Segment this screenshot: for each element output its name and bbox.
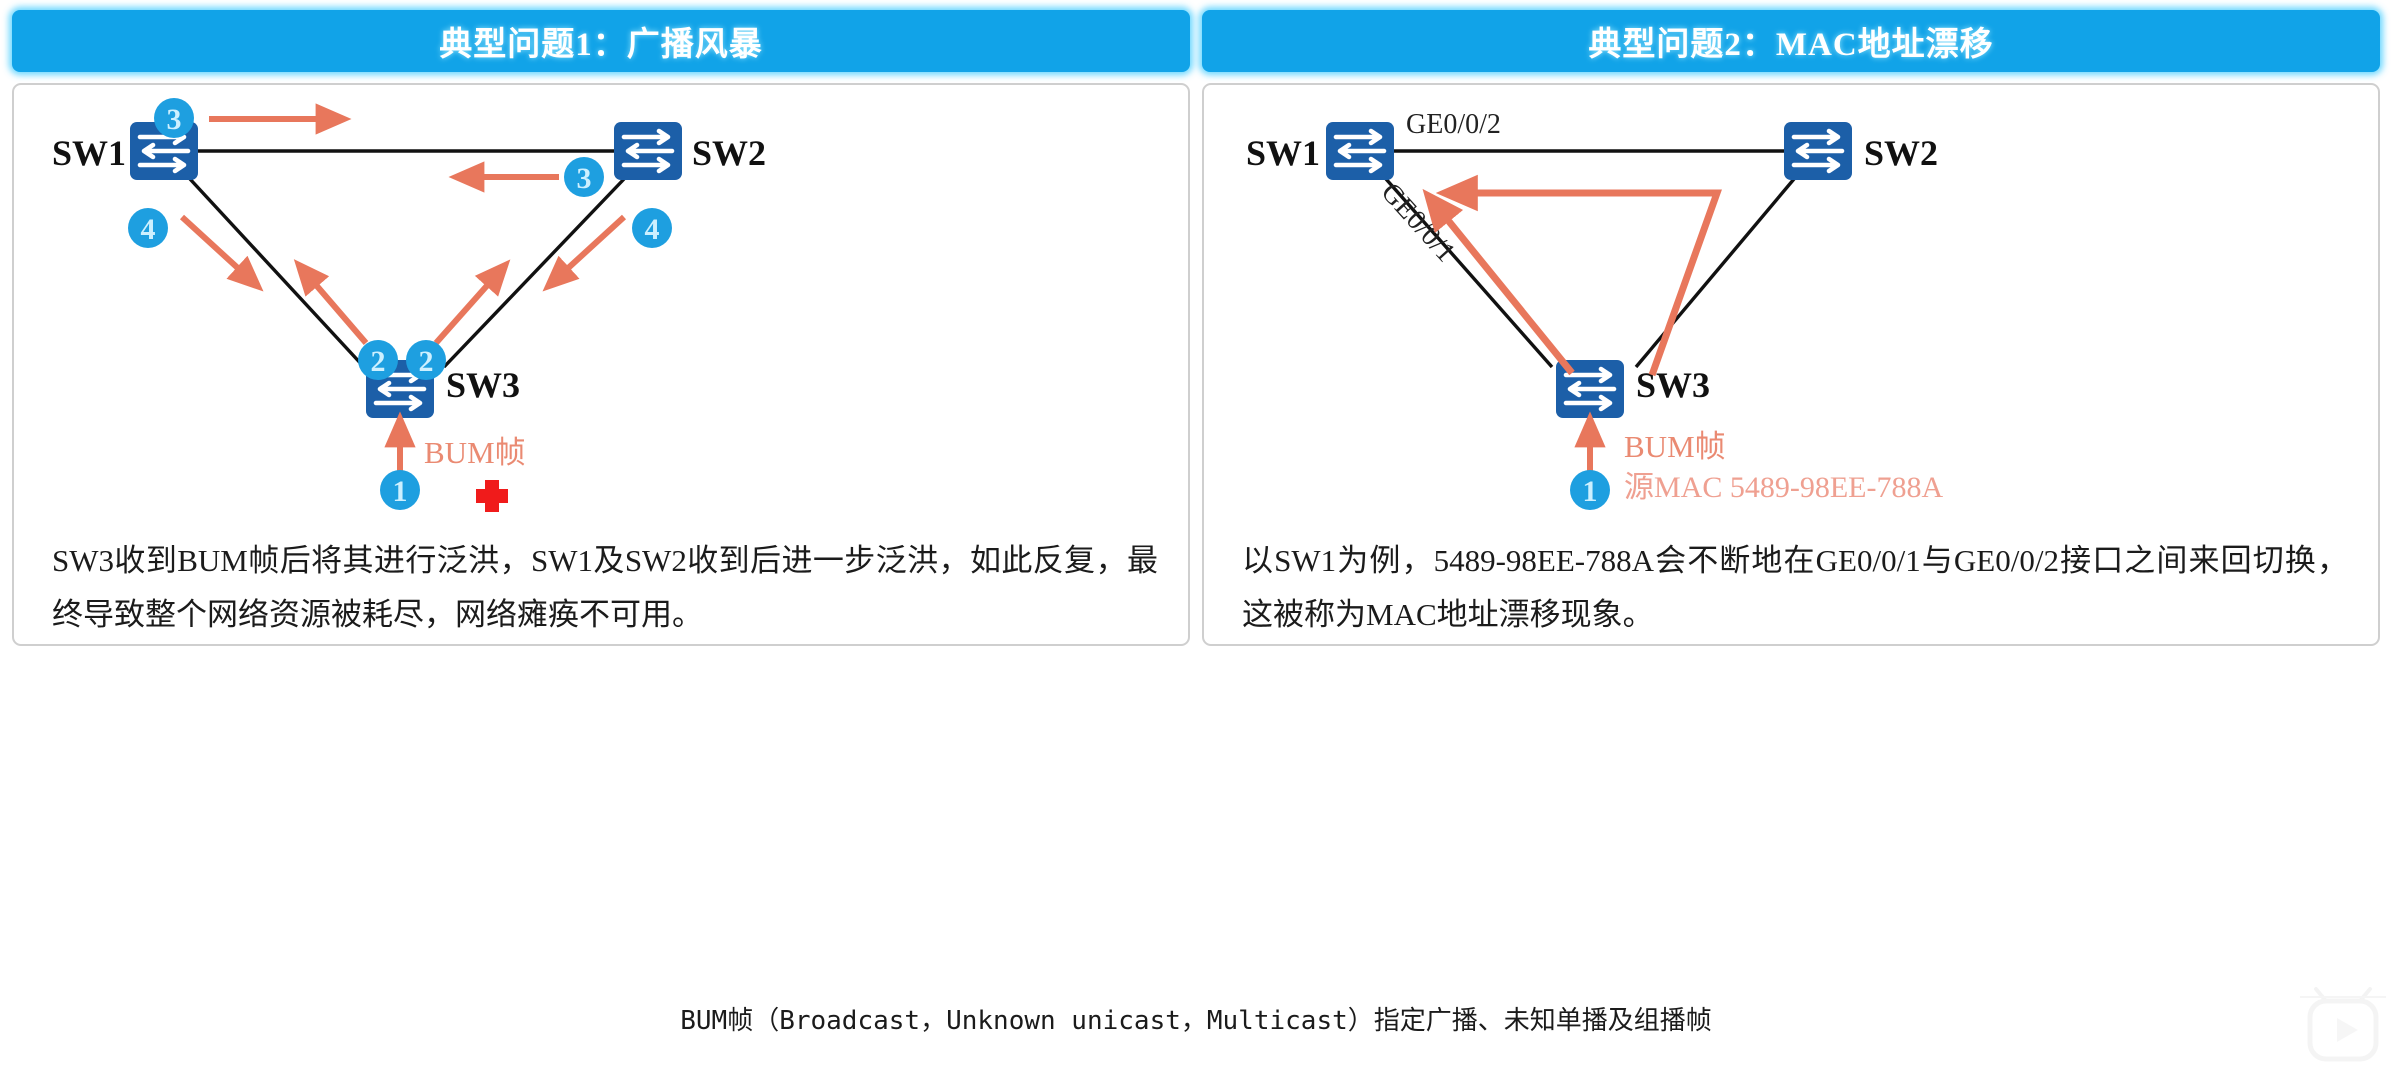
network-diagram-broadcast-storm: SW1 SW2 SW3 3 4 3 4 2 [14, 85, 1188, 515]
svg-text:2: 2 [419, 345, 434, 378]
panel-header-1: 典型问题1：广播风暴 [12, 10, 1190, 72]
step-badge-2b: 2 [406, 340, 446, 380]
panel-header-title-1: 典型问题1：广播风暴 [439, 17, 763, 65]
svg-text:4: 4 [141, 213, 156, 246]
tv-logo-watermark [2300, 985, 2386, 1075]
step-badge-3a: 3 [154, 98, 194, 138]
annotation-bum-frame: BUM帧 [424, 435, 526, 470]
annotation-bum-frame: BUM帧 [1624, 429, 1726, 464]
panel-broadcast-storm: 典型问题1：广播风暴 [12, 0, 1190, 1000]
svg-text:4: 4 [645, 213, 660, 246]
svg-text:1: 1 [1583, 475, 1598, 508]
annotation-source-mac: 源MAC 5489-98EE-788A [1624, 471, 1943, 504]
node-label-sw3: SW3 [1636, 365, 1710, 405]
network-diagram-mac-drift: SW1 SW2 SW3 GE0/0/2 GE0/0/1 1 BUM帧 [1204, 85, 2378, 515]
node-label-sw1: SW1 [1246, 133, 1320, 173]
switch-icon-sw2 [1784, 122, 1852, 180]
svg-text:2: 2 [371, 345, 386, 378]
node-label-sw3: SW3 [446, 365, 520, 405]
switch-icon-sw2 [614, 122, 682, 180]
step-badge-4a: 4 [128, 208, 168, 248]
svg-text:3: 3 [167, 103, 182, 136]
flow-arrow-to-sw1 [1434, 203, 1572, 373]
port-label-ge0-0-2: GE0/0/2 [1406, 109, 1501, 140]
flow-arrow-4-left [182, 217, 252, 281]
panel-header-2: 典型问题2：MAC地址漂移 [1202, 10, 2380, 72]
panel-description-1: SW3收到BUM帧后将其进行泛洪，SW1及SW2收到后进一步泛洪，如此反复，最终… [52, 534, 1158, 642]
svg-text:3: 3 [577, 162, 592, 195]
node-label-sw1: SW1 [52, 133, 126, 173]
step-badge-2a: 2 [358, 340, 398, 380]
slide-root: 典型问题1：广播风暴 [0, 0, 2392, 1075]
flow-arrow-4-right [554, 217, 624, 281]
panel-card-2: SW1 SW2 SW3 GE0/0/2 GE0/0/1 1 BUM帧 [1202, 83, 2380, 646]
panel-mac-drift: 典型问题2：MAC地址漂移 [1202, 0, 2380, 1000]
switch-icon-sw1 [1326, 122, 1394, 180]
flow-arrow-2-left [304, 271, 366, 343]
panel-card-1: SW1 SW2 SW3 3 4 3 4 2 [12, 83, 1190, 646]
step-badge-1: 1 [380, 470, 420, 510]
svg-text:1: 1 [393, 475, 408, 508]
step-badge-1: 1 [1570, 470, 1610, 510]
step-badge-3b: 3 [564, 157, 604, 197]
panel-description-2: 以SW1为例，5489-98EE-788A会不断地在GE0/0/1与GE0/0/… [1242, 534, 2348, 642]
flow-path-loop [1454, 193, 1717, 375]
panel-header-title-2: 典型问题2：MAC地址漂移 [1588, 17, 1993, 65]
red-cross-icon [476, 480, 508, 512]
step-badge-4b: 4 [632, 208, 672, 248]
flow-arrow-2-right [436, 271, 500, 343]
node-label-sw2: SW2 [1864, 133, 1938, 173]
node-label-sw2: SW2 [692, 133, 766, 173]
footer-note: BUM帧（Broadcast，Unknown unicast，Multicast… [0, 1000, 2392, 1037]
